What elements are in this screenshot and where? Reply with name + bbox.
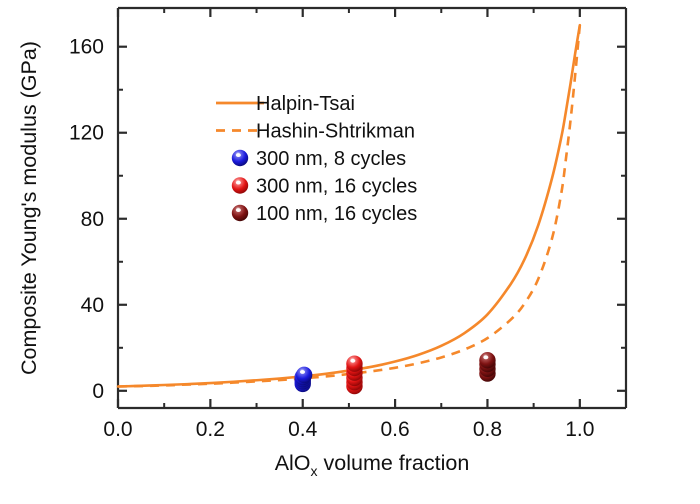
y-tick-label: 80	[81, 208, 104, 231]
x-tick-label: 0.6	[380, 418, 409, 441]
legend-marker-highlight	[236, 153, 241, 157]
chart-figure: 0.00.20.40.60.81.004080120160 Halpin-Tsa…	[0, 0, 700, 504]
x-tick-label: 0.0	[103, 418, 132, 441]
x-axis-title: AlOx volume fraction	[275, 451, 470, 479]
x-tick-label: 0.2	[196, 418, 225, 441]
marker-highlight	[350, 359, 355, 363]
axis-titles: Composite Young's modulus (GPa)AlOx volu…	[17, 41, 469, 479]
x-axis-title-suffix: volume fraction	[318, 451, 470, 475]
legend-label: 100 nm, 16 cycles	[256, 203, 417, 225]
legend-label: 300 nm, 16 cycles	[256, 176, 417, 198]
legend-marker-highlight	[236, 208, 241, 212]
composite-modulus-chart: 0.00.20.40.60.81.004080120160 Halpin-Tsa…	[0, 0, 700, 504]
marker-highlight	[300, 370, 305, 374]
y-tick-label: 40	[81, 294, 104, 317]
cluster-100-nm-16-cycles	[479, 352, 495, 382]
data-point	[479, 352, 495, 368]
chart-legend: Halpin-TsaiHashin-Shtrikman300 nm, 8 cyc…	[216, 93, 417, 225]
legend-marker-highlight	[236, 181, 241, 185]
x-tick-label: 0.4	[288, 418, 318, 441]
cluster-300-nm-8-cycles	[295, 367, 313, 392]
x-tick-label: 1.0	[565, 418, 594, 441]
cluster-300-nm-16-cycles	[346, 355, 362, 394]
legend-swatch-marker	[232, 150, 248, 166]
data-point	[346, 355, 362, 371]
y-axis-title: Composite Young's modulus (GPa)	[17, 41, 41, 375]
y-tick-label: 120	[69, 122, 104, 145]
data-point	[296, 367, 312, 383]
y-tick-label: 0	[92, 380, 104, 403]
x-axis-title-prefix: AlO	[275, 451, 311, 475]
marker-highlight	[483, 355, 488, 359]
x-axis-title-subscript: x	[311, 463, 318, 479]
x-tick-label: 0.8	[473, 418, 502, 441]
legend-label: Halpin-Tsai	[256, 93, 355, 115]
y-tick-label: 160	[69, 36, 104, 59]
legend-swatch-marker	[232, 205, 248, 221]
legend-label: 300 nm, 8 cycles	[256, 148, 406, 170]
legend-swatch-marker	[232, 177, 248, 193]
legend-label: Hashin-Shtrikman	[256, 121, 415, 143]
